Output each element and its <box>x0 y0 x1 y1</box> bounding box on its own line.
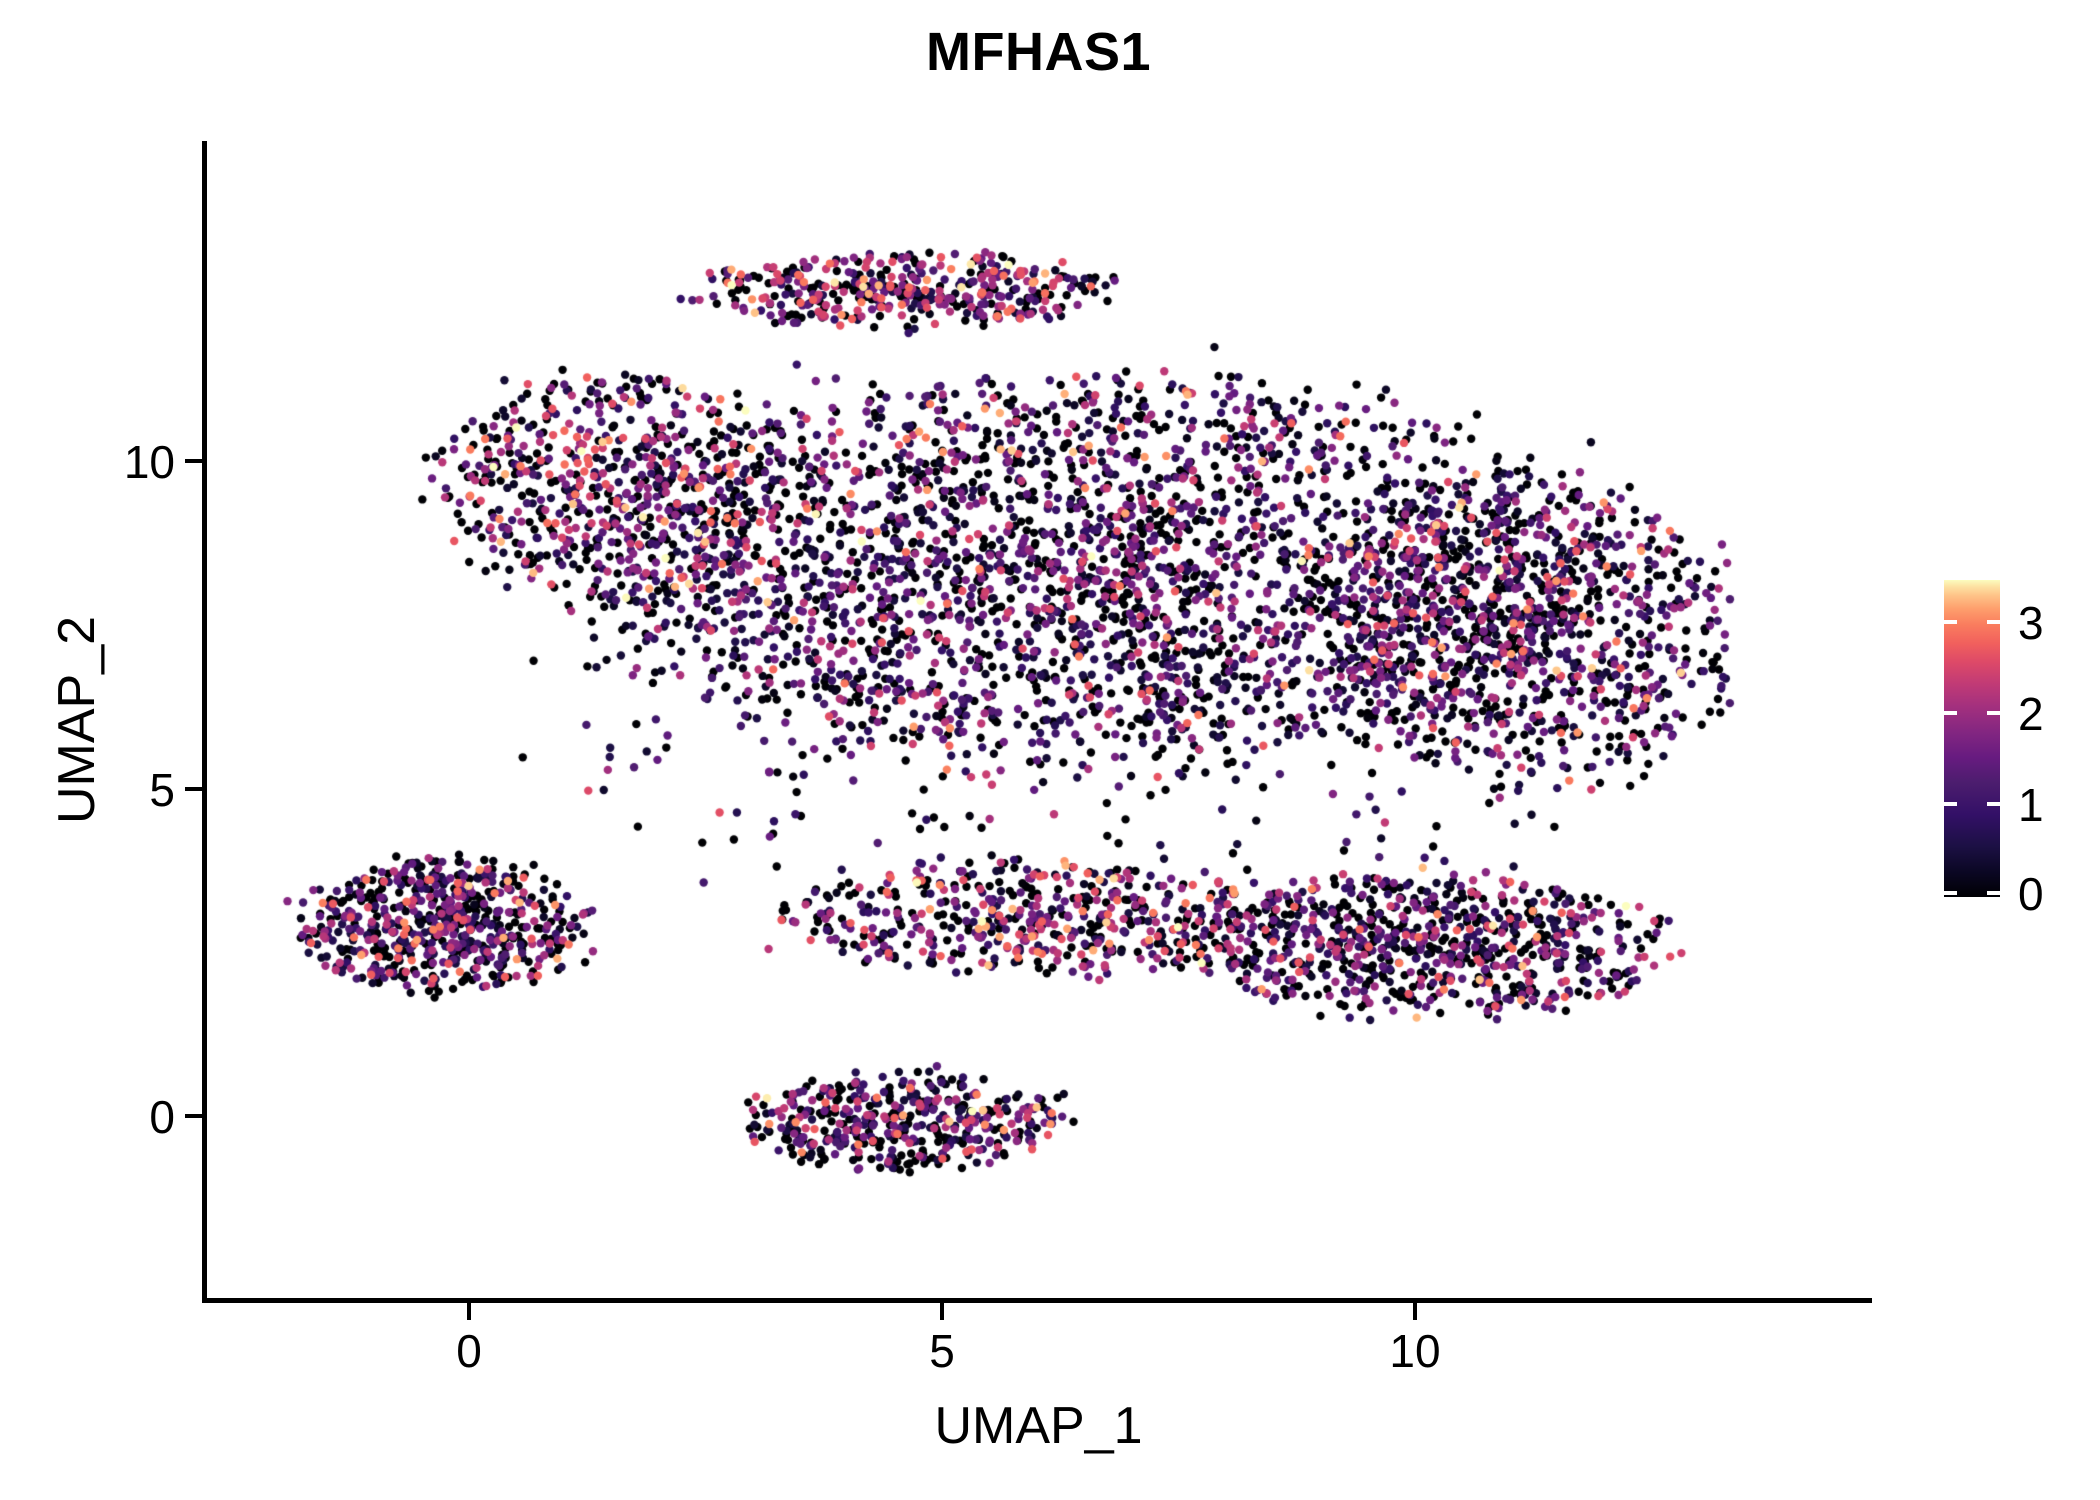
colorbar-label-3: 3 <box>2018 596 2044 650</box>
colorbar-tick-3-right <box>1987 620 2000 624</box>
x-tick-mark-0 <box>467 1303 471 1320</box>
plot-panel <box>205 141 1872 1300</box>
colorbar-tick-1-left <box>1944 802 1957 806</box>
colorbar-tick-3-left <box>1944 620 1957 624</box>
colorbar-tick-0-right <box>1987 891 2000 895</box>
y-tick-mark-0 <box>185 1114 202 1118</box>
x-tick-label-10: 10 <box>1335 1324 1495 1378</box>
x-tick-label-5: 5 <box>862 1324 1022 1378</box>
colorbar-tick-2-right <box>1987 711 2000 715</box>
y-axis-title: UMAP_2 <box>47 370 107 1070</box>
y-tick-mark-5 <box>185 787 202 791</box>
y-tick-label-0: 0 <box>0 1090 175 1144</box>
x-axis-title: UMAP_1 <box>205 1396 1872 1456</box>
colorbar-gradient <box>1944 580 2000 897</box>
x-tick-mark-5 <box>940 1303 944 1320</box>
x-axis-line <box>202 1298 1872 1303</box>
colorbar-tick-1-right <box>1987 802 2000 806</box>
colorbar-legend: 3 2 1 0 <box>1944 580 2094 900</box>
umap-feature-plot: MFHAS1 0 5 10 0 5 10 UMAP_1 UMAP_2 3 2 1… <box>0 0 2100 1500</box>
colorbar-label-0: 0 <box>2018 867 2044 921</box>
y-tick-mark-10 <box>185 459 202 463</box>
y-axis-line <box>202 141 207 1303</box>
colorbar-label-2: 2 <box>2018 687 2044 741</box>
scatter-point-cloud <box>205 141 1872 1300</box>
colorbar-label-1: 1 <box>2018 778 2044 832</box>
page-title: MFHAS1 <box>205 24 1872 81</box>
x-tick-label-0: 0 <box>389 1324 549 1378</box>
colorbar-tick-0-left <box>1944 891 1957 895</box>
colorbar-tick-2-left <box>1944 711 1957 715</box>
x-tick-mark-10 <box>1413 1303 1417 1320</box>
